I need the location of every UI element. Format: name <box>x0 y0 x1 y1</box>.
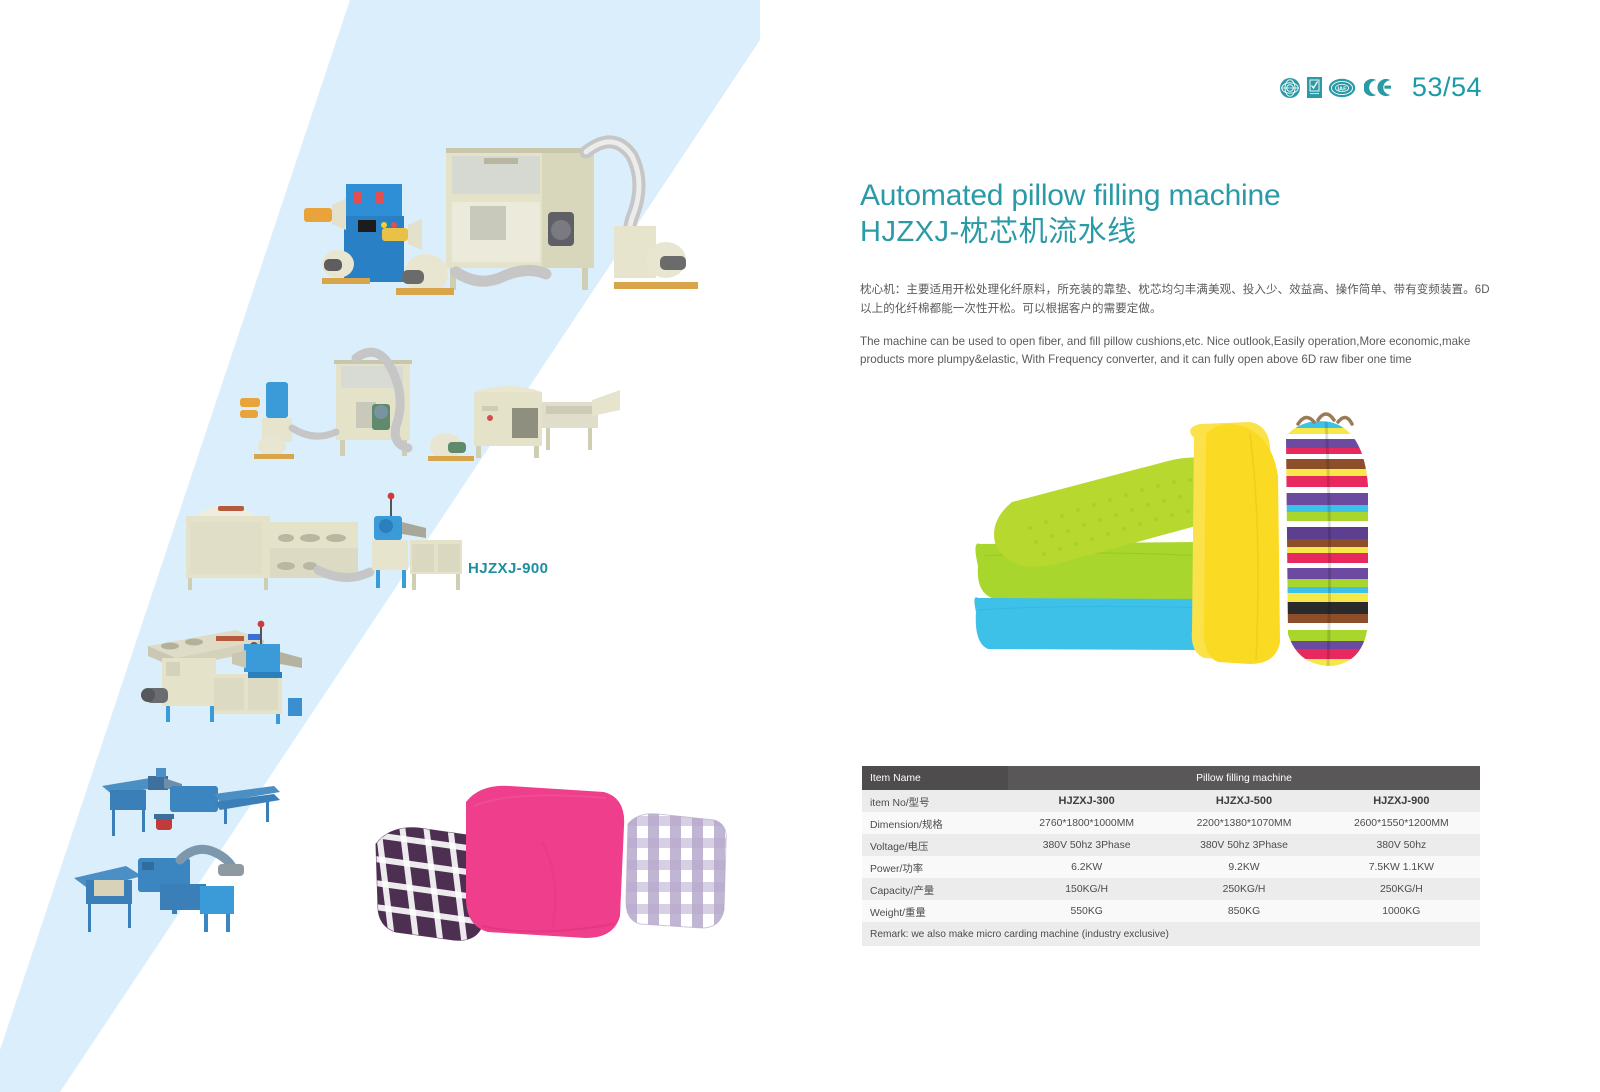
brochure-page: IAF 53/54 Automated pillow filling machi… <box>0 0 1600 1092</box>
machine-line-photo-4 <box>136 612 362 726</box>
row-label: Power/功率 <box>862 856 1008 878</box>
row-value: HJZXJ-300 <box>1008 790 1165 812</box>
stacked-pillows-photo <box>950 398 1380 683</box>
table-remark-row: Remark: we also make micro carding machi… <box>862 922 1480 946</box>
machine-line-photo-2 <box>236 346 622 466</box>
table-row: Weight/重量 550KG 850KG 1000KG <box>862 900 1480 922</box>
description-english: The machine can be used to open fiber, a… <box>860 333 1474 371</box>
table-row: item No/型号 HJZXJ-300 HJZXJ-500 HJZXJ-900 <box>862 790 1480 812</box>
table-header-row: Item Name Pillow filling machine <box>862 766 1480 790</box>
row-value: HJZXJ-500 <box>1165 790 1322 812</box>
table-row: Voltage/电压 380V 50hz 3Phase 380V 50hz 3P… <box>862 834 1480 856</box>
row-value: 380V 50hz 3Phase <box>1008 834 1165 856</box>
certification-strip: IAF 53/54 <box>1279 74 1482 101</box>
row-value: 550KG <box>1008 900 1165 922</box>
specification-table: Item Name Pillow filling machine item No… <box>862 766 1480 946</box>
row-value: 250KG/H <box>1165 878 1322 900</box>
table-row: Capacity/产量 150KG/H 250KG/H 250KG/H <box>862 878 1480 900</box>
row-label: Dimension/规格 <box>862 812 1008 834</box>
table-row: Dimension/规格 2760*1800*1000MM 2200*1380*… <box>862 812 1480 834</box>
row-value: 150KG/H <box>1008 878 1165 900</box>
row-label: item No/型号 <box>862 790 1008 812</box>
machine-line-photo-6 <box>68 836 258 942</box>
row-value: 6.2KW <box>1008 856 1165 878</box>
row-value: 1000KG <box>1323 900 1480 922</box>
row-value: 2600*1550*1200MM <box>1323 812 1480 834</box>
table-row: Power/功率 6.2KW 9.2KW 7.5KW 1.1KW <box>862 856 1480 878</box>
svg-text:IAF: IAF <box>1337 86 1347 92</box>
machine-line-photo-3 <box>178 486 470 594</box>
iaf-cert-icon: IAF <box>1328 78 1356 98</box>
machine-line-photo-1 <box>284 132 704 332</box>
content-column: Automated pillow filling machine HJZXJ-枕… <box>860 178 1484 370</box>
row-value: 2200*1380*1070MM <box>1165 812 1322 834</box>
title-english: Automated pillow filling machine <box>860 178 1484 213</box>
description-chinese: 枕心机：主要适用开松处理化纤原料，所充装的靠垫、枕芯均匀丰满美观、投入少、效益高… <box>860 281 1490 319</box>
checkmark-cert-icon <box>1307 77 1322 98</box>
row-value: 850KG <box>1165 900 1322 922</box>
title-chinese: HJZXJ-枕芯机流水线 <box>860 215 1484 250</box>
table-header-item-name: Item Name <box>862 766 1008 790</box>
row-value: 9.2KW <box>1165 856 1322 878</box>
iso-cert-icon <box>1279 77 1301 99</box>
row-value: HJZXJ-900 <box>1323 790 1480 812</box>
row-value: 7.5KW 1.1KW <box>1323 856 1480 878</box>
row-label: Weight/重量 <box>862 900 1008 922</box>
three-cushions-photo <box>362 782 734 944</box>
row-value: 250KG/H <box>1323 878 1480 900</box>
row-value: 2760*1800*1000MM <box>1008 812 1165 834</box>
row-label: Capacity/产量 <box>862 878 1008 900</box>
row-label: Voltage/电压 <box>862 834 1008 856</box>
machine-model-label: HJZXJ-900 <box>468 560 548 577</box>
page-number: 53/54 <box>1412 74 1482 101</box>
table-header-span: Pillow filling machine <box>1008 766 1480 790</box>
remark-text: Remark: we also make micro carding machi… <box>862 922 1480 946</box>
row-value: 380V 50hz 3Phase <box>1165 834 1322 856</box>
row-value: 380V 50hz <box>1323 834 1480 856</box>
ce-mark-icon <box>1364 77 1392 98</box>
